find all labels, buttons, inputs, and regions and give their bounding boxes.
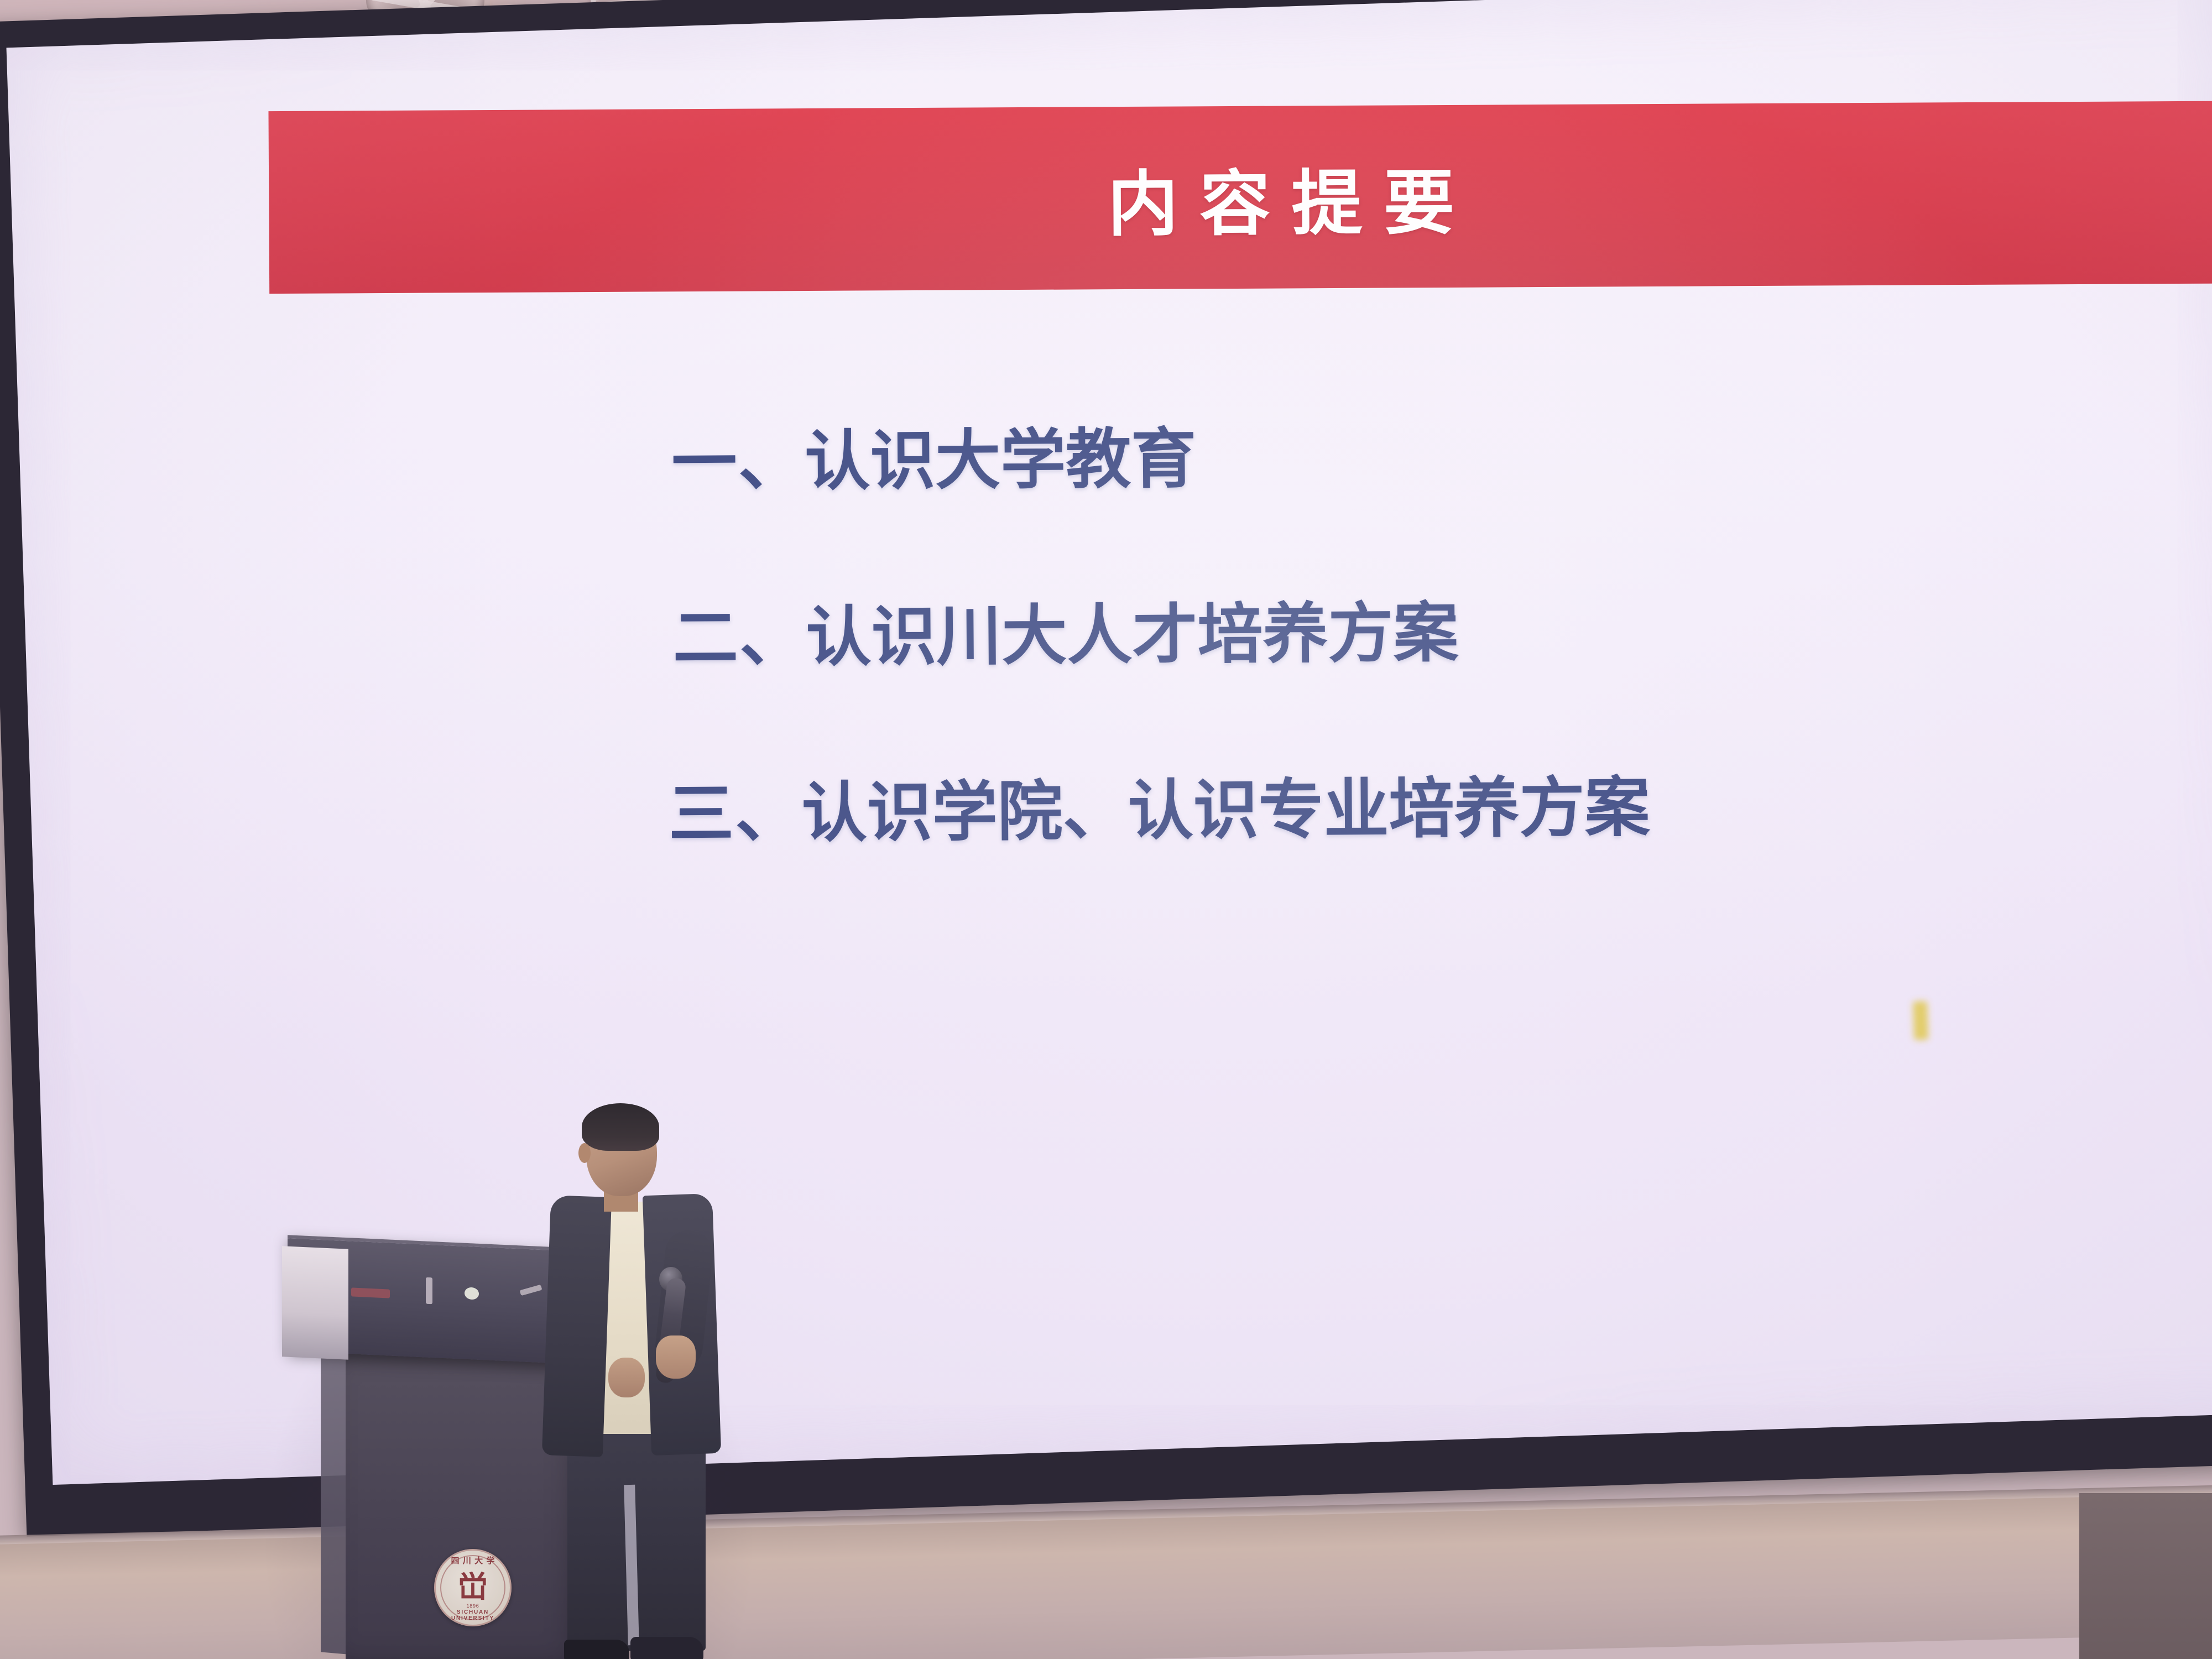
slide-bullet-item: 三、认识学院、认识专业培养方案 xyxy=(669,771,2212,847)
emblem-glyph: 峃 xyxy=(458,1572,488,1602)
podium-red-label xyxy=(351,1287,390,1298)
slide-bullet-item: 一、认识大学教育 xyxy=(671,419,2212,495)
speaker-hair xyxy=(582,1103,659,1151)
slide-title: 内容提要 xyxy=(1086,145,1476,249)
bullet-text: 认识大学教育 xyxy=(805,422,1197,498)
presentation-photo-scene: 内容提要 一、认识大学教育 二、认识川大人才培养方案 三、认识学院、认识专业培养… xyxy=(0,0,2212,1659)
bullet-text: 认识学院、认识专业培养方案 xyxy=(801,771,1650,850)
speaker-hand-left xyxy=(608,1358,645,1397)
slide-bullet-item: 二、认识川大人才培养方案 xyxy=(672,595,2212,671)
podium-top-lip xyxy=(282,1246,348,1359)
emblem-name-cn: 四川大学 xyxy=(434,1554,512,1566)
slide-bullet-list: 一、认识大学教育 二、认识川大人才培养方案 三、认识学院、认识专业培养方案 xyxy=(19,419,2212,962)
emblem-year: 1896 xyxy=(434,1603,512,1609)
bullet-number: 三、 xyxy=(668,777,802,851)
speaker-person xyxy=(542,1098,741,1659)
bullet-text: 认识川大人才培养方案 xyxy=(806,597,1459,674)
emblem-name-en: SICHUAN UNIVERSITY xyxy=(434,1609,512,1621)
side-wall xyxy=(2079,1493,2212,1659)
bullet-number: 二、 xyxy=(672,601,806,675)
speaker-ear xyxy=(578,1143,591,1163)
slide-title-banner: 内容提要 xyxy=(268,101,2212,294)
speaker-hand-right xyxy=(656,1335,696,1379)
screen-artifact-mark xyxy=(1913,1001,1928,1040)
podium-water-glass xyxy=(465,1287,479,1300)
podium-gooseneck-mic-icon xyxy=(426,1277,432,1305)
speaker-shoe-left xyxy=(564,1640,629,1659)
bullet-number: 一、 xyxy=(671,425,805,499)
speaker-shoe-right xyxy=(630,1637,703,1659)
university-emblem: 四川大学 峃 1896 SICHUAN UNIVERSITY xyxy=(434,1549,512,1626)
speaker-jacket-left xyxy=(542,1195,612,1457)
